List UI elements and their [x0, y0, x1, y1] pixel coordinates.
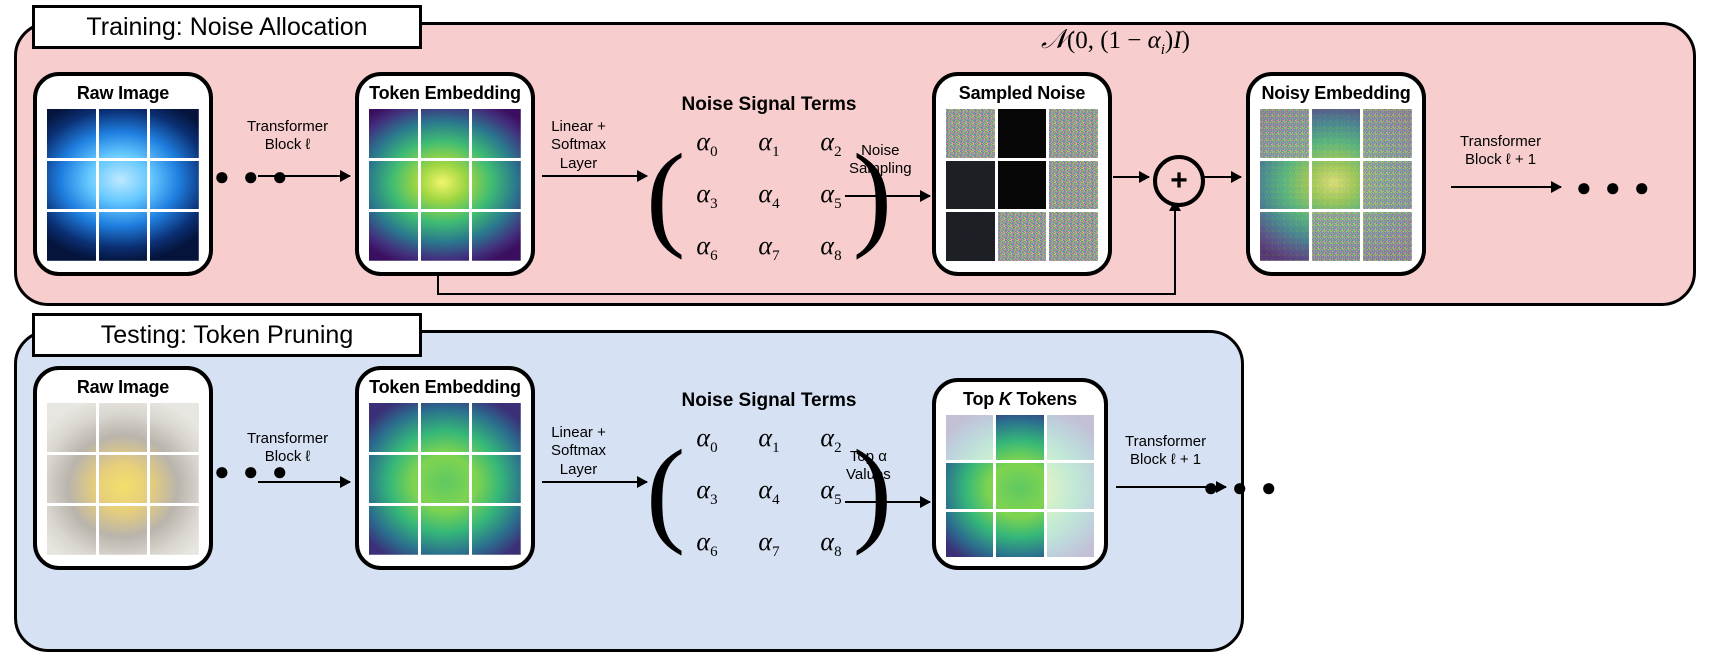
tile [369, 403, 418, 452]
arrow-raw-to-embedding-testing [258, 481, 350, 483]
tile [47, 161, 96, 210]
ellipsis-training-2: ● ● ● [1576, 174, 1653, 200]
arrow-label-top-alpha-values: Top α Values [846, 448, 891, 485]
matrix-cell: α4 [738, 466, 800, 518]
arrow-label-linear-softmax-testing: Linear + Softmax Layer [551, 424, 606, 479]
tile [1049, 212, 1098, 261]
matrix-cell: α1 [738, 118, 800, 170]
tile [369, 109, 418, 158]
tile [47, 109, 96, 158]
matrix-title: Noise Signal Terms [650, 94, 888, 116]
image-tile-grid [47, 109, 199, 261]
k-symbol: K [999, 389, 1012, 409]
tile [946, 212, 995, 261]
arrow-plus-to-noisy-embedding [1201, 176, 1241, 178]
tile-kept [946, 512, 993, 557]
tile [1312, 109, 1361, 158]
tile [99, 212, 148, 261]
tile [472, 161, 521, 210]
tile [99, 109, 148, 158]
matrix-cell: α3 [676, 170, 738, 222]
tile [47, 455, 96, 504]
tile [421, 455, 470, 504]
tile [998, 161, 1047, 210]
tile [946, 109, 995, 158]
tile-kept [996, 415, 1043, 460]
matrix-cell: α6 [676, 518, 738, 570]
tile [369, 161, 418, 210]
tile [1260, 109, 1309, 158]
arrow-matrix-to-noise [845, 195, 930, 197]
card-title: Token Embedding [369, 377, 521, 398]
tile [99, 455, 148, 504]
card-token-embedding-training: Token Embedding [355, 72, 535, 276]
tile [150, 212, 199, 261]
tile [1312, 161, 1361, 210]
tile [369, 455, 418, 504]
arrow-embedding-to-matrix-testing [542, 481, 647, 483]
gaussian-distribution-formula: 𝒩(0, (1 − αi)I) [1041, 24, 1190, 59]
tile [99, 161, 148, 210]
tile-pruned [1047, 415, 1094, 460]
tile [472, 212, 521, 261]
tile [1363, 161, 1412, 210]
arrow-embedding-to-matrix-training [542, 175, 647, 177]
card-sampled-noise: Sampled Noise [932, 72, 1112, 276]
tile [369, 212, 418, 261]
tile [150, 455, 199, 504]
arrow-label-transformer-block-l1-training: Transformer Block ℓ + 1 [1460, 133, 1541, 170]
card-top-k-tokens: Top K Tokens [932, 378, 1108, 570]
arrow-label-noise-sampling: Noise Sampling [849, 142, 912, 179]
matrix-cell: α7 [738, 222, 800, 274]
matrix-row: α6 α7 α8 [676, 222, 862, 274]
image-tile-grid [47, 403, 199, 555]
matrix-body: ( α0 α1 α2 α3 α4 α5 α6 α7 α8 ) [650, 414, 888, 571]
tile [998, 109, 1047, 158]
tile [1260, 161, 1309, 210]
matrix-row: α0 α1 α2 [676, 118, 862, 170]
tile [1363, 212, 1412, 261]
tile [369, 506, 418, 555]
tile [99, 506, 148, 555]
matrix-row: α0 α1 α2 [676, 414, 862, 466]
tile [1049, 109, 1098, 158]
tile [47, 212, 96, 261]
tile [421, 109, 470, 158]
matrix-cell: α0 [676, 414, 738, 466]
noise-tile-grid [946, 109, 1098, 261]
diagram-canvas: Training: Noise Allocation 𝒩(0, (1 − αi)… [0, 0, 1710, 662]
card-title: Raw Image [77, 377, 169, 398]
card-title: Noisy Embedding [1261, 83, 1410, 104]
tile-kept [946, 463, 993, 508]
tile [1363, 109, 1412, 158]
matrix-row: α3 α4 α5 [676, 170, 862, 222]
left-paren: ( [646, 148, 685, 245]
matrix-title: Noise Signal Terms [650, 390, 888, 412]
card-raw-image-training: Raw Image [33, 72, 213, 276]
tile-kept [996, 463, 1043, 508]
arrow-label-linear-softmax-training: Linear + Softmax Layer [551, 118, 606, 173]
tile-pruned [946, 415, 993, 460]
arrow-label-transformer-block-l1-testing: Transformer Block ℓ + 1 [1125, 433, 1206, 470]
card-title: Top K Tokens [963, 389, 1077, 410]
tile-pruned [1047, 512, 1094, 557]
tile [1260, 212, 1309, 261]
card-token-embedding-testing: Token Embedding [355, 366, 535, 570]
tile [99, 403, 148, 452]
matrix-cell: α6 [676, 222, 738, 274]
tile [472, 109, 521, 158]
tile-kept [996, 512, 1043, 557]
tile [421, 506, 470, 555]
tile [998, 212, 1047, 261]
matrix-cell: α4 [738, 170, 800, 222]
matrix-cell: α0 [676, 118, 738, 170]
image-tile-grid [946, 415, 1094, 557]
tile [946, 161, 995, 210]
arrow-matrix-to-topk [845, 501, 930, 503]
tile [421, 161, 470, 210]
arrow-noisy-to-next-block [1451, 186, 1561, 188]
tile [421, 212, 470, 261]
card-title: Token Embedding [369, 83, 521, 104]
card-noisy-embedding: Noisy Embedding [1246, 72, 1426, 276]
card-title: Sampled Noise [959, 83, 1085, 104]
left-paren: ( [646, 444, 685, 541]
add-operator-node: + [1153, 155, 1205, 207]
tile-pruned [1047, 463, 1094, 508]
tile [47, 506, 96, 555]
ellipsis-testing-2: ● ● ● [1203, 474, 1280, 500]
card-raw-image-testing: Raw Image [33, 366, 213, 570]
feedback-line-horizontal [437, 293, 1175, 295]
tile [150, 506, 199, 555]
matrix-row: α6 α7 α8 [676, 518, 862, 570]
matrix-cell: α7 [738, 518, 800, 570]
tile [1312, 212, 1361, 261]
tile [47, 403, 96, 452]
arrow-label-transformer-block-l-training: Transformer Block ℓ [247, 118, 328, 155]
matrix-cell: α1 [738, 414, 800, 466]
image-tile-grid [369, 109, 521, 261]
training-panel-title: Training: Noise Allocation [32, 5, 422, 49]
card-title: Raw Image [77, 83, 169, 104]
tile [472, 455, 521, 504]
arrow-label-transformer-block-l-testing: Transformer Block ℓ [247, 430, 328, 467]
tile [472, 506, 521, 555]
matrix-row: α3 α4 α5 [676, 466, 862, 518]
arrow-raw-to-embedding-training [258, 175, 350, 177]
noise-signal-terms-matrix-training: Noise Signal Terms ( α0 α1 α2 α3 α4 α5 α… [650, 94, 888, 275]
arrow-noise-to-plus [1113, 176, 1149, 178]
tile [150, 403, 199, 452]
tile [472, 403, 521, 452]
image-tile-grid [369, 403, 521, 555]
testing-panel-title: Testing: Token Pruning [32, 313, 422, 357]
matrix-cell: α3 [676, 466, 738, 518]
tile [150, 109, 199, 158]
feedback-line-vertical-right [1174, 206, 1176, 295]
tile [150, 161, 199, 210]
image-tile-grid [1260, 109, 1412, 261]
tile [1049, 161, 1098, 210]
tile [421, 403, 470, 452]
